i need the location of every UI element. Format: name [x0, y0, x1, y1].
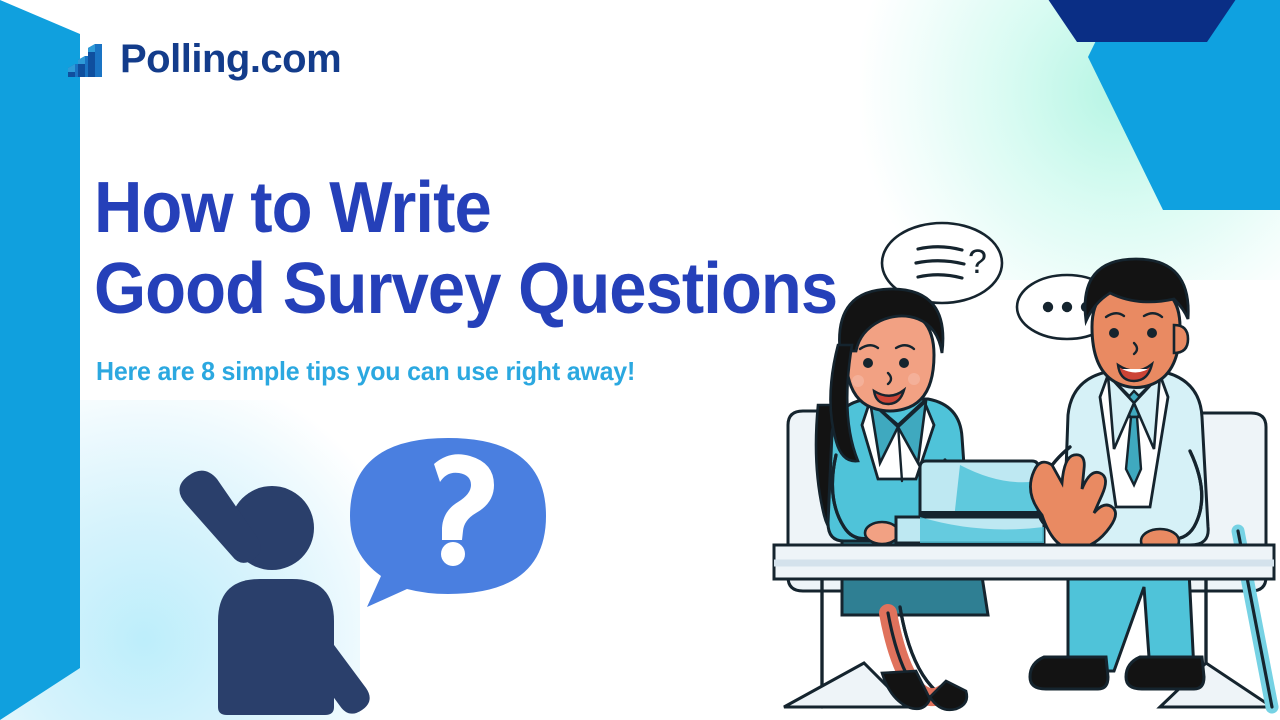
brand-logo[interactable]: Polling.com — [64, 36, 341, 82]
two-people-interview-illustration: .ln { fill:none; stroke:#15242E; stroke-… — [770, 215, 1280, 720]
bar-chart-3d-icon — [64, 36, 110, 82]
headline-line-2: Good Survey Questions — [94, 249, 857, 330]
angled-blue-side-bar — [0, 0, 80, 720]
desk — [774, 545, 1274, 579]
slide-canvas: Polling.com How to Write Good Survey Que… — [0, 0, 1280, 720]
brand-name: Polling.com — [120, 39, 341, 79]
page-subtitle: Here are 8 simple tips you can use right… — [96, 356, 635, 387]
person-silhouette-icon — [179, 471, 369, 715]
question-speech-bubble-icon — [350, 438, 546, 607]
person-raising-hand-with-question-bubble-icon — [150, 418, 550, 718]
svg-text:?: ? — [968, 243, 987, 281]
headline-line-1: How to Write — [94, 168, 857, 249]
